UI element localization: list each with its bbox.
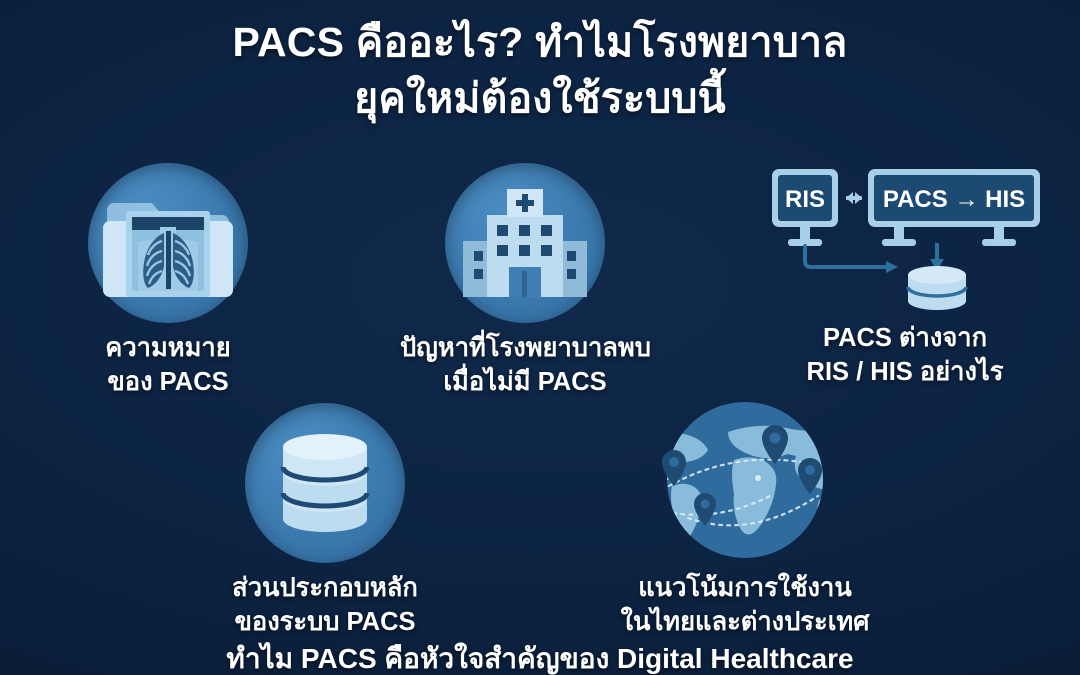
monitor-label-pacs-his: PACS → HIS: [883, 186, 1025, 213]
database-cylinder-icon: [908, 266, 966, 310]
database-stack-icon: [245, 403, 405, 563]
xray-folder-icon: [88, 163, 248, 323]
ris-to-database-line: [805, 246, 886, 267]
footer-tagline: ทำไม PACS คือหัวใจสำคัญของ Digital Healt…: [0, 637, 1080, 675]
monitor-label-ris: RIS: [785, 186, 825, 213]
card-label-line-1: แนวโน้มการใช้งาน: [638, 574, 852, 602]
icon-wrap-riship: RIS PACS → HIS: [760, 163, 1050, 313]
title-line-2: ยุคใหม่ต้องใช้ระบบนี้: [0, 70, 1080, 126]
card-label-components: ส่วนประกอบหลัก ของระบบ PACS: [200, 572, 450, 639]
title-line-1: PACS คืออะไร? ทำไมโรงพยาบาล: [0, 14, 1080, 70]
ris-pacs-his-diagram-icon: RIS PACS → HIS: [760, 163, 1050, 313]
card-usage-trends[interactable]: แนวโน้มการใช้งาน ในไทยและต่างประเทศ: [610, 398, 880, 639]
card-pacs-vs-ris-his[interactable]: RIS PACS → HIS: [760, 163, 1050, 389]
card-label-line-2: ในไทยและต่างประเทศ: [610, 606, 880, 640]
icon-wrap-components: [245, 403, 405, 563]
card-label-problems: ปัญหาที่โรงพยาบาลพบ เมื่อไม่มี PACS: [400, 332, 650, 399]
card-label-line-2: ของระบบ PACS: [200, 606, 450, 640]
bidirectional-arrow-icon: [846, 192, 862, 204]
card-label-line-1: PACS ต่างจาก: [823, 324, 987, 352]
card-label-line-1: ความหมาย: [105, 334, 230, 362]
card-label-meaning: ความหมาย ของ PACS: [43, 332, 293, 399]
card-label-line-2: RIS / HIS อย่างไร: [760, 356, 1050, 390]
card-label-line-1: ส่วนประกอบหลัก: [232, 574, 418, 602]
icon-wrap-meaning: [88, 163, 248, 323]
card-label-line-1: ปัญหาที่โรงพยาบาลพบ: [400, 334, 651, 362]
globe-network-icon: [610, 398, 880, 563]
card-label-trends: แนวโน้มการใช้งาน ในไทยและต่างประเทศ: [610, 572, 880, 639]
icon-wrap-trends: [610, 398, 880, 563]
card-label-line-2: ของ PACS: [43, 366, 293, 400]
hospital-building-icon: [445, 163, 605, 323]
ris-arrow-head: [886, 261, 898, 273]
infographic-canvas: PACS คืออะไร? ทำไมโรงพยาบาล ยุคใหม่ต้องใ…: [0, 0, 1080, 675]
card-label-riship: PACS ต่างจาก RIS / HIS อย่างไร: [760, 322, 1050, 389]
card-pacs-components[interactable]: ส่วนประกอบหลัก ของระบบ PACS: [200, 403, 450, 639]
card-problems-without-pacs[interactable]: ปัญหาที่โรงพยาบาลพบ เมื่อไม่มี PACS: [400, 163, 650, 399]
icon-wrap-problems: [445, 163, 605, 323]
card-label-line-2: เมื่อไม่มี PACS: [400, 366, 650, 400]
card-meaning-of-pacs[interactable]: ความหมาย ของ PACS: [43, 163, 293, 399]
page-title: PACS คืออะไร? ทำไมโรงพยาบาล ยุคใหม่ต้องใ…: [0, 14, 1080, 126]
